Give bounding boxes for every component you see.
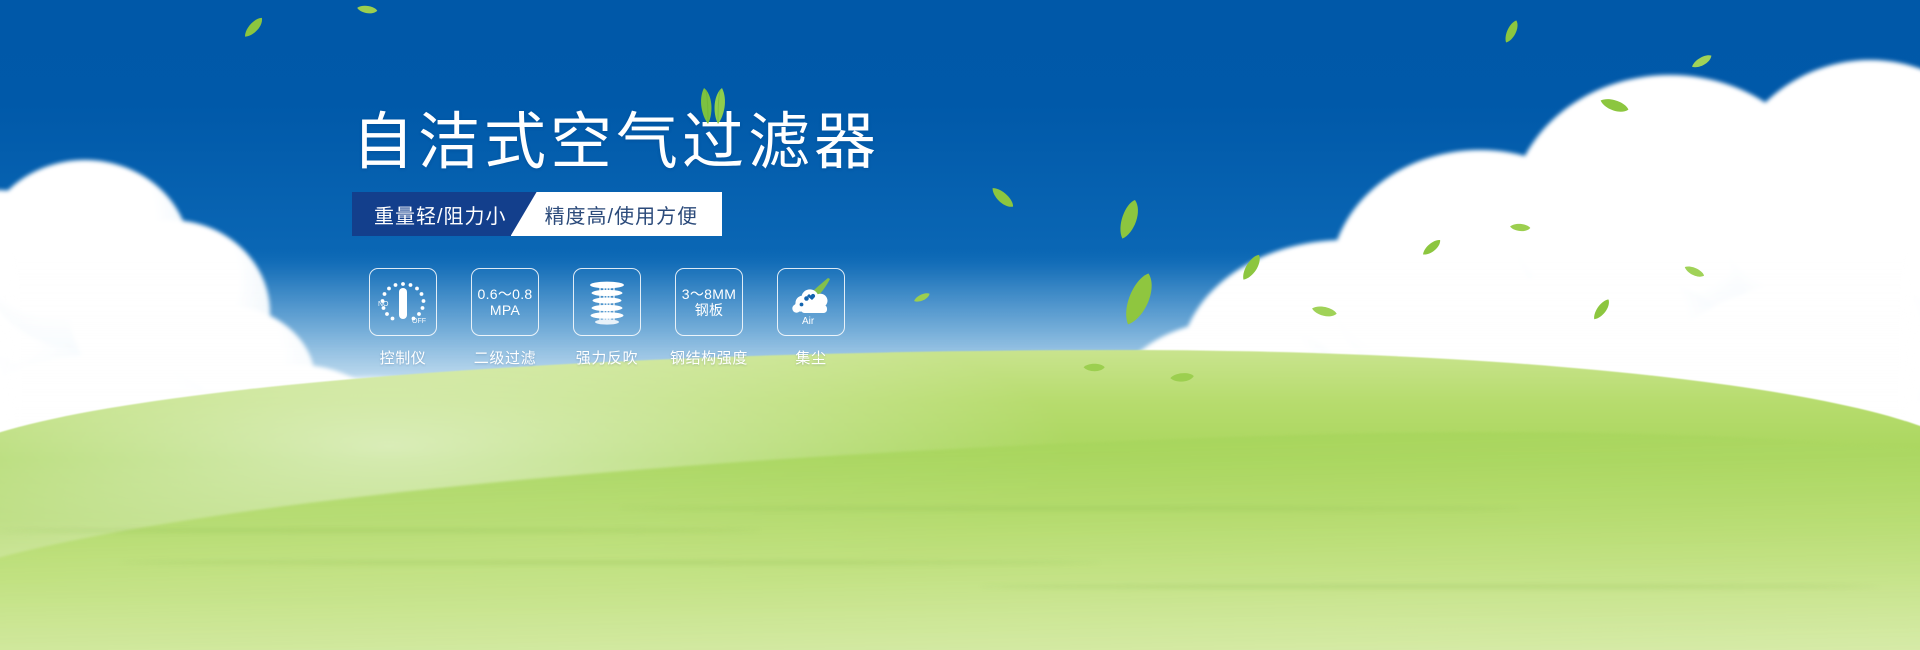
- title-block: 自洁式空气过滤器: [352, 112, 1112, 174]
- feature-icon-box: 0.6～0.8 MPA: [471, 268, 539, 336]
- feature-icon-box: NO OFF: [369, 268, 437, 336]
- feature-caption: 钢结构强度: [670, 347, 748, 368]
- grass-streak: [120, 561, 1100, 564]
- tag-left: 重量轻/阻力小: [352, 192, 537, 236]
- dial-gauge-icon: NO OFF: [376, 277, 430, 327]
- feature-value-line2: 钢板: [695, 302, 724, 318]
- product-banner: 自洁式空气过滤器 重量轻/阻力小 精度高/使用方便: [0, 0, 1920, 650]
- feature-caption: 集尘: [795, 347, 826, 368]
- grass-streak: [0, 529, 760, 532]
- feature-value-line1: 3～8MM: [682, 286, 736, 302]
- feature-item-steel[interactable]: 3～8MM 钢板 钢结构强度: [658, 268, 760, 368]
- feature-icon-box: 3～8MM 钢板: [675, 268, 743, 336]
- feature-icon-box: Air: [777, 268, 845, 336]
- filter-cartridge-icon: [583, 277, 631, 327]
- svg-text:OFF: OFF: [412, 318, 426, 325]
- air-label: Air: [802, 316, 815, 327]
- feature-item-pressure[interactable]: 0.6～0.8 MPA 二级过滤: [454, 268, 556, 368]
- grass-streak: [980, 585, 1880, 588]
- feature-item-dustcollect[interactable]: Air 集尘: [760, 268, 862, 368]
- feature-list: NO OFF 控制仪 0.6～0.8 MPA 二级过滤: [352, 268, 862, 368]
- feature-value-line2: MPA: [490, 302, 520, 318]
- sprout-leaves-icon: [682, 82, 744, 131]
- feature-item-backblow[interactable]: 强力反吹: [556, 268, 658, 368]
- cloud-air-icon: Air: [782, 276, 840, 328]
- feature-item-controller[interactable]: NO OFF 控制仪: [352, 268, 454, 368]
- svg-text:NO: NO: [378, 301, 389, 308]
- feature-caption: 强力反吹: [576, 347, 638, 368]
- tag-right: 精度高/使用方便: [511, 192, 723, 236]
- grass-streak: [620, 507, 1520, 510]
- feature-value-line1: 0.6～0.8: [477, 286, 532, 302]
- feature-icon-box: [573, 268, 641, 336]
- feature-caption: 二级过滤: [474, 347, 536, 368]
- feature-caption: 控制仪: [380, 347, 427, 368]
- floating-leaf: [1169, 371, 1195, 385]
- feature-tag-band: 重量轻/阻力小 精度高/使用方便: [352, 192, 722, 236]
